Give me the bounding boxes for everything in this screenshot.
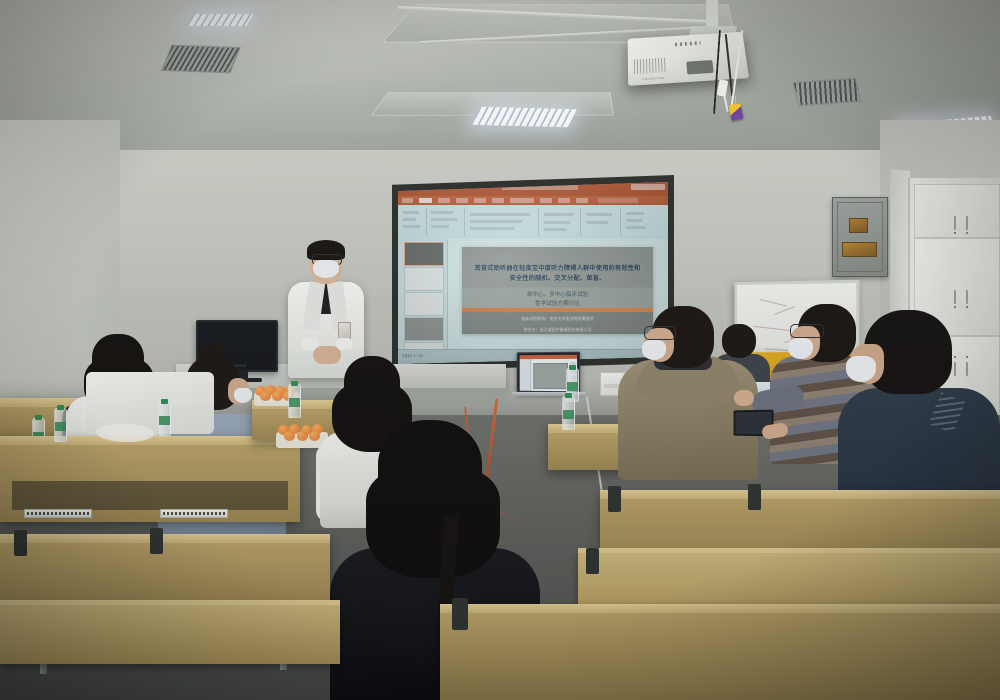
- water-bottle: [562, 396, 575, 430]
- bench-desk: [0, 436, 300, 522]
- projector-brand-label: PROJECTOR: [642, 76, 664, 81]
- glasses-icon: [644, 326, 676, 340]
- slide-thumbnail-pane[interactable]: [399, 239, 448, 350]
- bench-post-cap: [608, 486, 621, 512]
- face-mask-icon: [234, 388, 252, 403]
- bench-post-cap: [14, 530, 27, 556]
- bench-post-cap: [452, 598, 468, 630]
- air-vent-icon: [161, 45, 241, 73]
- slide-title: 耳背式助听器在轻度至中度听力障碍人群中使用的有效性和安全性的随机、交叉分配、单盲…: [472, 264, 644, 284]
- water-bottle: [158, 402, 171, 436]
- slide-thumbnail: [404, 292, 444, 316]
- bench-post-cap: [150, 528, 163, 554]
- tab-animations: [492, 198, 504, 203]
- glasses-icon: [790, 324, 824, 338]
- electrical-panel: [832, 197, 888, 277]
- attendee-khaki-jacket: [618, 300, 758, 480]
- tab-review: [540, 198, 552, 203]
- projector-led-row: [675, 41, 701, 46]
- tab-transitions: [474, 198, 486, 203]
- slide-thumbnail: [404, 317, 444, 341]
- bench-desk: [0, 534, 330, 608]
- id-badge: [338, 322, 351, 339]
- tab-help: [576, 198, 588, 203]
- desk-number-tag: [160, 509, 228, 518]
- ceiling-light: [187, 14, 254, 26]
- tell-me-box: [598, 198, 638, 203]
- face-mask-icon: [846, 356, 876, 382]
- ribbon-tabs[interactable]: [398, 196, 668, 205]
- tab-design: [456, 198, 468, 203]
- ceiling-light: [471, 107, 577, 128]
- tab-file: [402, 198, 413, 203]
- laptop-thumbnail-pane: [520, 359, 532, 391]
- slide-thumbnail: [404, 267, 444, 291]
- slide-subtitle: 单中心、多中心临床试验 性学试验方案讨论: [477, 291, 637, 309]
- tab-view: [558, 198, 570, 203]
- bench-backrest: [0, 604, 340, 664]
- face-mask-icon: [313, 260, 339, 278]
- face-mask-icon: [642, 340, 666, 360]
- air-vent-icon: [793, 78, 862, 106]
- classroom-photo: PROJECTOR: [0, 0, 1000, 700]
- slide-thumbnail: [404, 242, 444, 266]
- tab-insert: [438, 198, 450, 203]
- face-mask-icon: [788, 338, 813, 359]
- projector-lens-icon: [686, 60, 713, 74]
- bench-post-cap: [586, 548, 599, 574]
- window-controls[interactable]: [631, 184, 665, 190]
- bench-post-cap: [748, 484, 761, 510]
- attendee-head: [344, 356, 400, 412]
- water-bottle: [54, 408, 67, 442]
- bench-desk: [440, 604, 1000, 700]
- projector-vent-icon: [634, 58, 667, 75]
- ribbon-toolbar[interactable]: [398, 205, 668, 240]
- attendee-hand: [734, 390, 754, 406]
- water-bottle: [288, 384, 301, 418]
- attendee-hair-bun: [198, 344, 226, 364]
- tab-home: [419, 198, 432, 203]
- attendee-head: [378, 420, 482, 516]
- laptop-slide: [533, 363, 568, 389]
- tab-slideshow: [510, 198, 534, 203]
- desk-number-tag: [24, 509, 92, 518]
